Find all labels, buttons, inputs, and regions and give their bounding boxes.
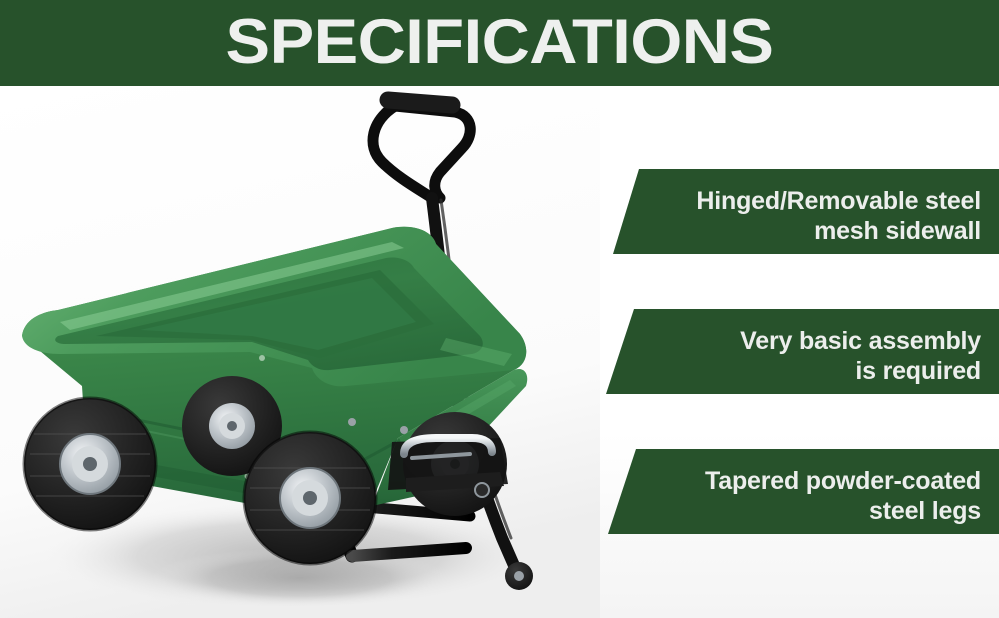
- callout-line-2: steel legs: [600, 496, 981, 526]
- callout-tapered-powder-coated-steel-legs: Tapered powder-coated steel legs: [600, 449, 999, 534]
- product-image: [0, 86, 600, 618]
- callout-line-2: is required: [600, 356, 981, 386]
- header-bar: SPECIFICATIONS: [0, 0, 999, 86]
- callout-line-1: Very basic assembly: [600, 326, 981, 356]
- handle-caster: [505, 562, 533, 590]
- callout-hinged-removable-steel-mesh-sidewall: Hinged/Removable steel mesh sidewall: [600, 169, 999, 254]
- specifications-infographic: SPECIFICATIONS: [0, 0, 999, 618]
- callout-line-2: mesh sidewall: [600, 216, 981, 246]
- wheel-front-left: [244, 432, 376, 564]
- callout-line-1: Hinged/Removable steel: [600, 186, 981, 216]
- callout-line-1: Tapered powder-coated: [600, 466, 981, 496]
- callout-very-basic-assembly-is-required: Very basic assembly is required: [600, 309, 999, 394]
- page-title: SPECIFICATIONS: [0, 4, 999, 80]
- wheel-rear-left: [24, 398, 156, 530]
